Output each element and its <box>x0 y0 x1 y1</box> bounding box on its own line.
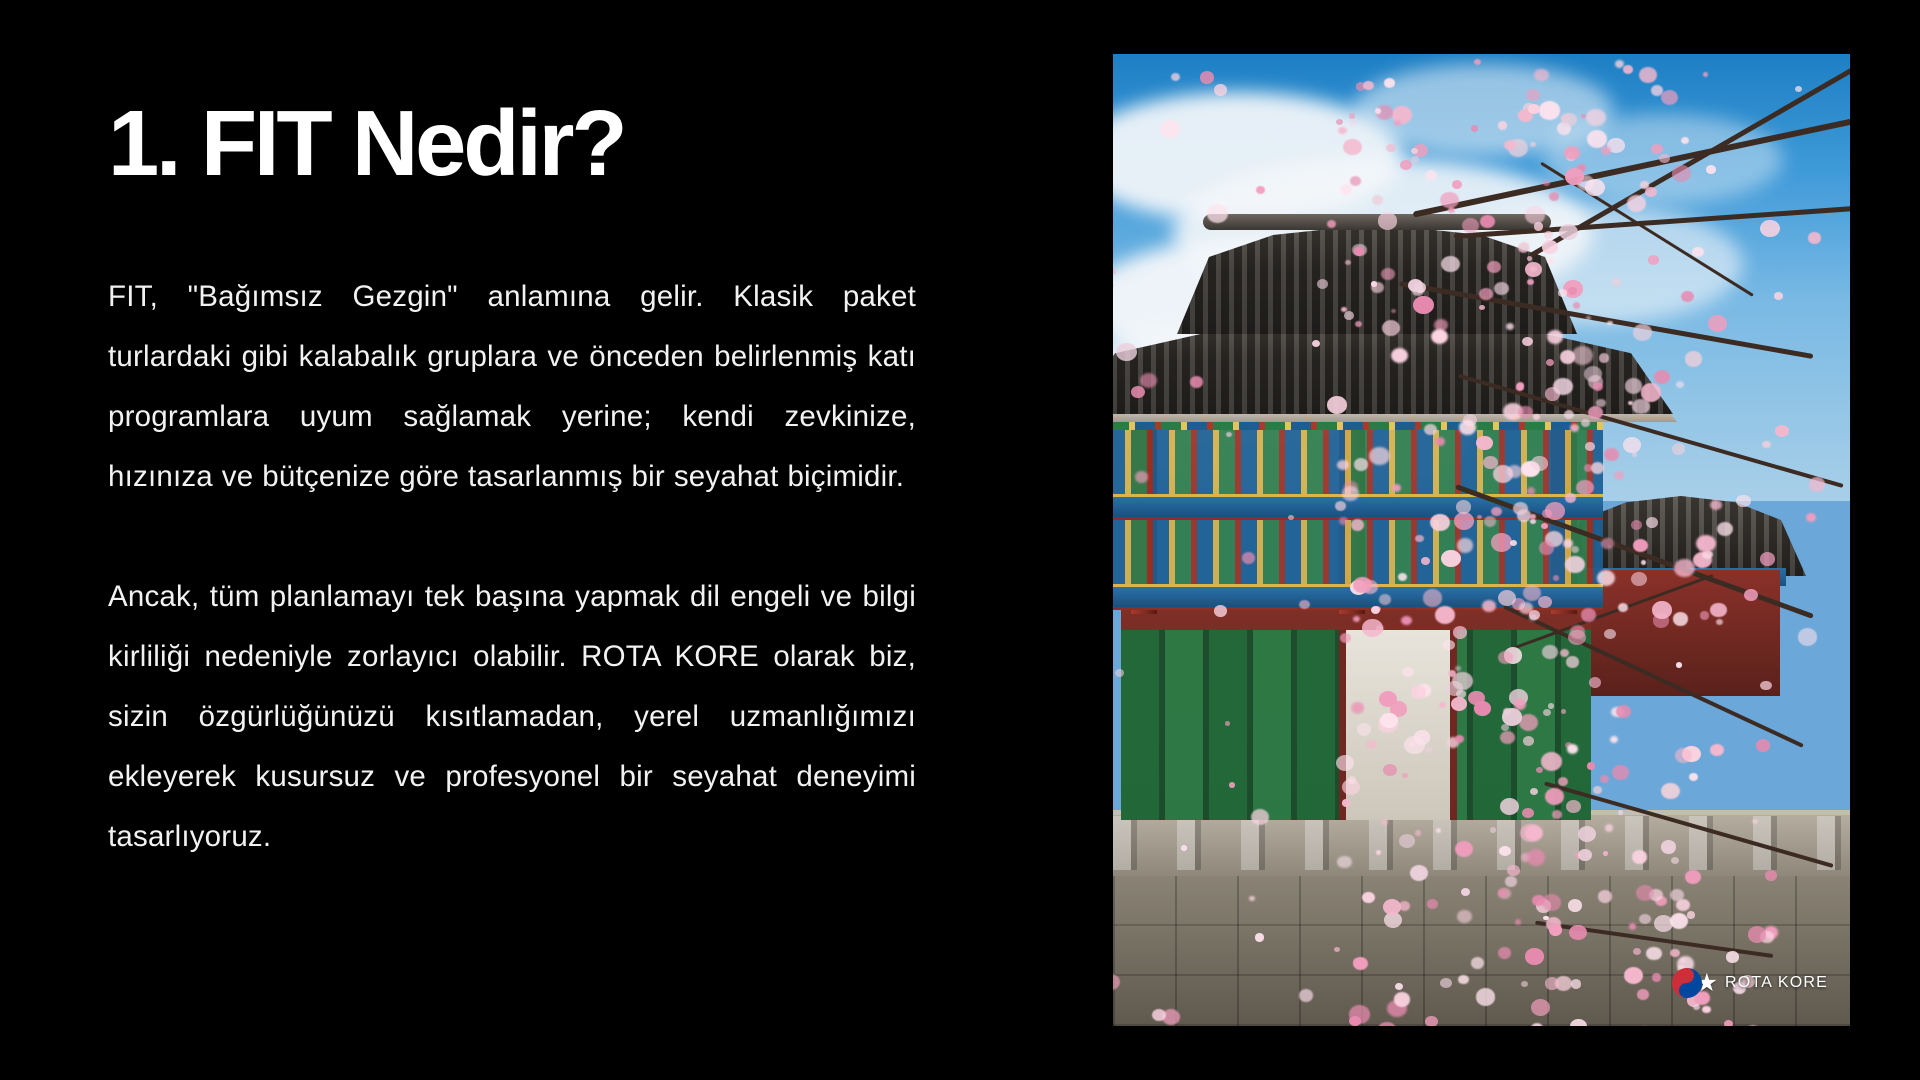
paragraph-1: FIT, "Bağımsız Gezgin" anlamına gelir. K… <box>108 267 916 507</box>
blossom-petal <box>1806 513 1817 522</box>
watermark-logo: ★ ROTA KORE <box>1672 966 1828 1000</box>
brand-name: ROTA KORE <box>1725 974 1828 992</box>
text-column: 1. FIT Nedir? FIT, "Bağımsız Gezgin" anl… <box>108 96 918 996</box>
taeguk-icon <box>1672 968 1702 998</box>
page-title: 1. FIT Nedir? <box>108 96 910 191</box>
blossom-petal <box>1756 739 1770 751</box>
stone-wall <box>1113 876 1850 1026</box>
palace-building <box>1113 300 1663 820</box>
palace-photo: ★ ROTA KORE <box>1113 54 1850 1026</box>
slide-image: ★ ROTA KORE <box>1113 54 1850 1026</box>
blossom-petal <box>1710 744 1724 756</box>
body-copy: FIT, "Bağımsız Gezgin" anlamına gelir. K… <box>108 267 916 927</box>
blossom-petal <box>1682 746 1700 762</box>
blossom-petal <box>1675 748 1692 763</box>
balustrade-posts <box>1113 816 1850 870</box>
paragraph-2: Ancak, tüm planlamayı tek başına yapmak … <box>108 567 916 927</box>
slide-root: 1. FIT Nedir? FIT, "Bağımsız Gezgin" anl… <box>0 0 1920 1080</box>
